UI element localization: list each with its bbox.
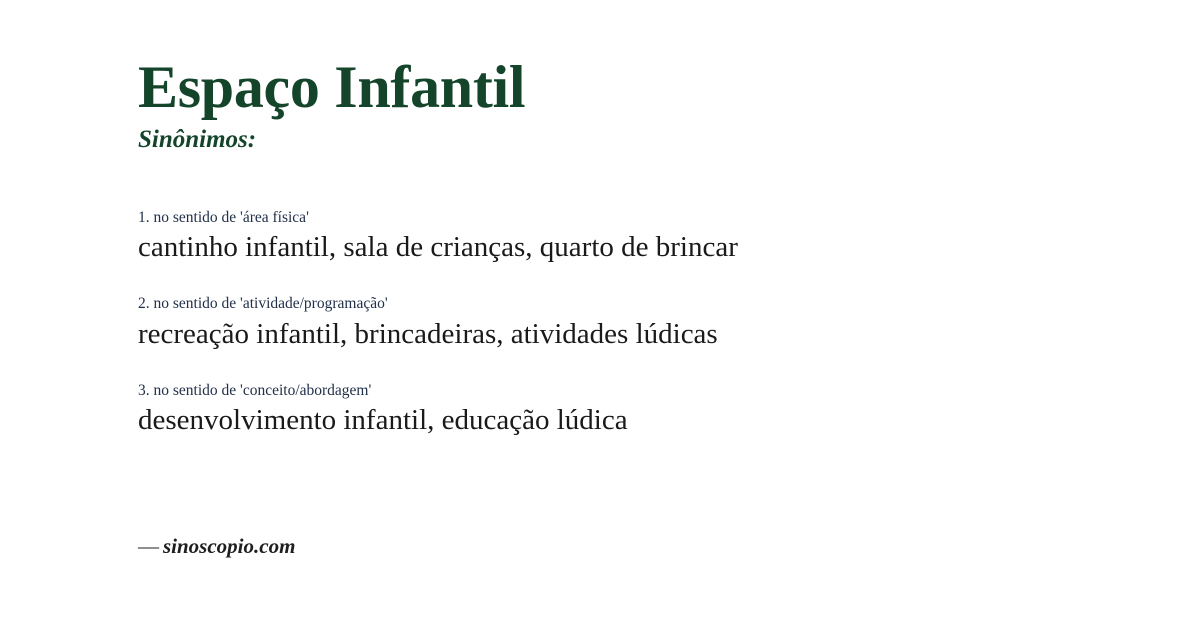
attribution-source: sinoscopio.com (163, 534, 295, 558)
attribution: —sinoscopio.com (138, 534, 295, 559)
card-header: Espaço Infantil Sinônimos: (138, 56, 1138, 153)
sense-label-3: 3. no sentido de 'conceito/abordagem' (138, 381, 1148, 400)
sense-synonyms-1: cantinho infantil, sala de crianças, qua… (138, 229, 1148, 266)
sense-label-2: 2. no sentido de 'atividade/programação' (138, 294, 1148, 313)
sense-block-3: 3. no sentido de 'conceito/abordagem' de… (138, 381, 1148, 439)
synonyms-subtitle: Sinônimos: (138, 126, 1138, 154)
synonym-card: Espaço Infantil Sinônimos: 1. no sentido… (0, 0, 1200, 628)
sense-block-1: 1. no sentido de 'área física' cantinho … (138, 208, 1148, 266)
sense-synonyms-3: desenvolvimento infantil, educação lúdic… (138, 402, 1148, 439)
sense-label-1: 1. no sentido de 'área física' (138, 208, 1148, 227)
page-title: Espaço Infantil (138, 56, 1138, 120)
sense-block-2: 2. no sentido de 'atividade/programação'… (138, 294, 1148, 352)
em-dash-glyph: — (138, 534, 159, 558)
card-footer: —sinoscopio.com (138, 534, 295, 559)
senses-list: 1. no sentido de 'área física' cantinho … (138, 208, 1148, 439)
sense-synonyms-2: recreação infantil, brincadeiras, ativid… (138, 316, 1148, 353)
